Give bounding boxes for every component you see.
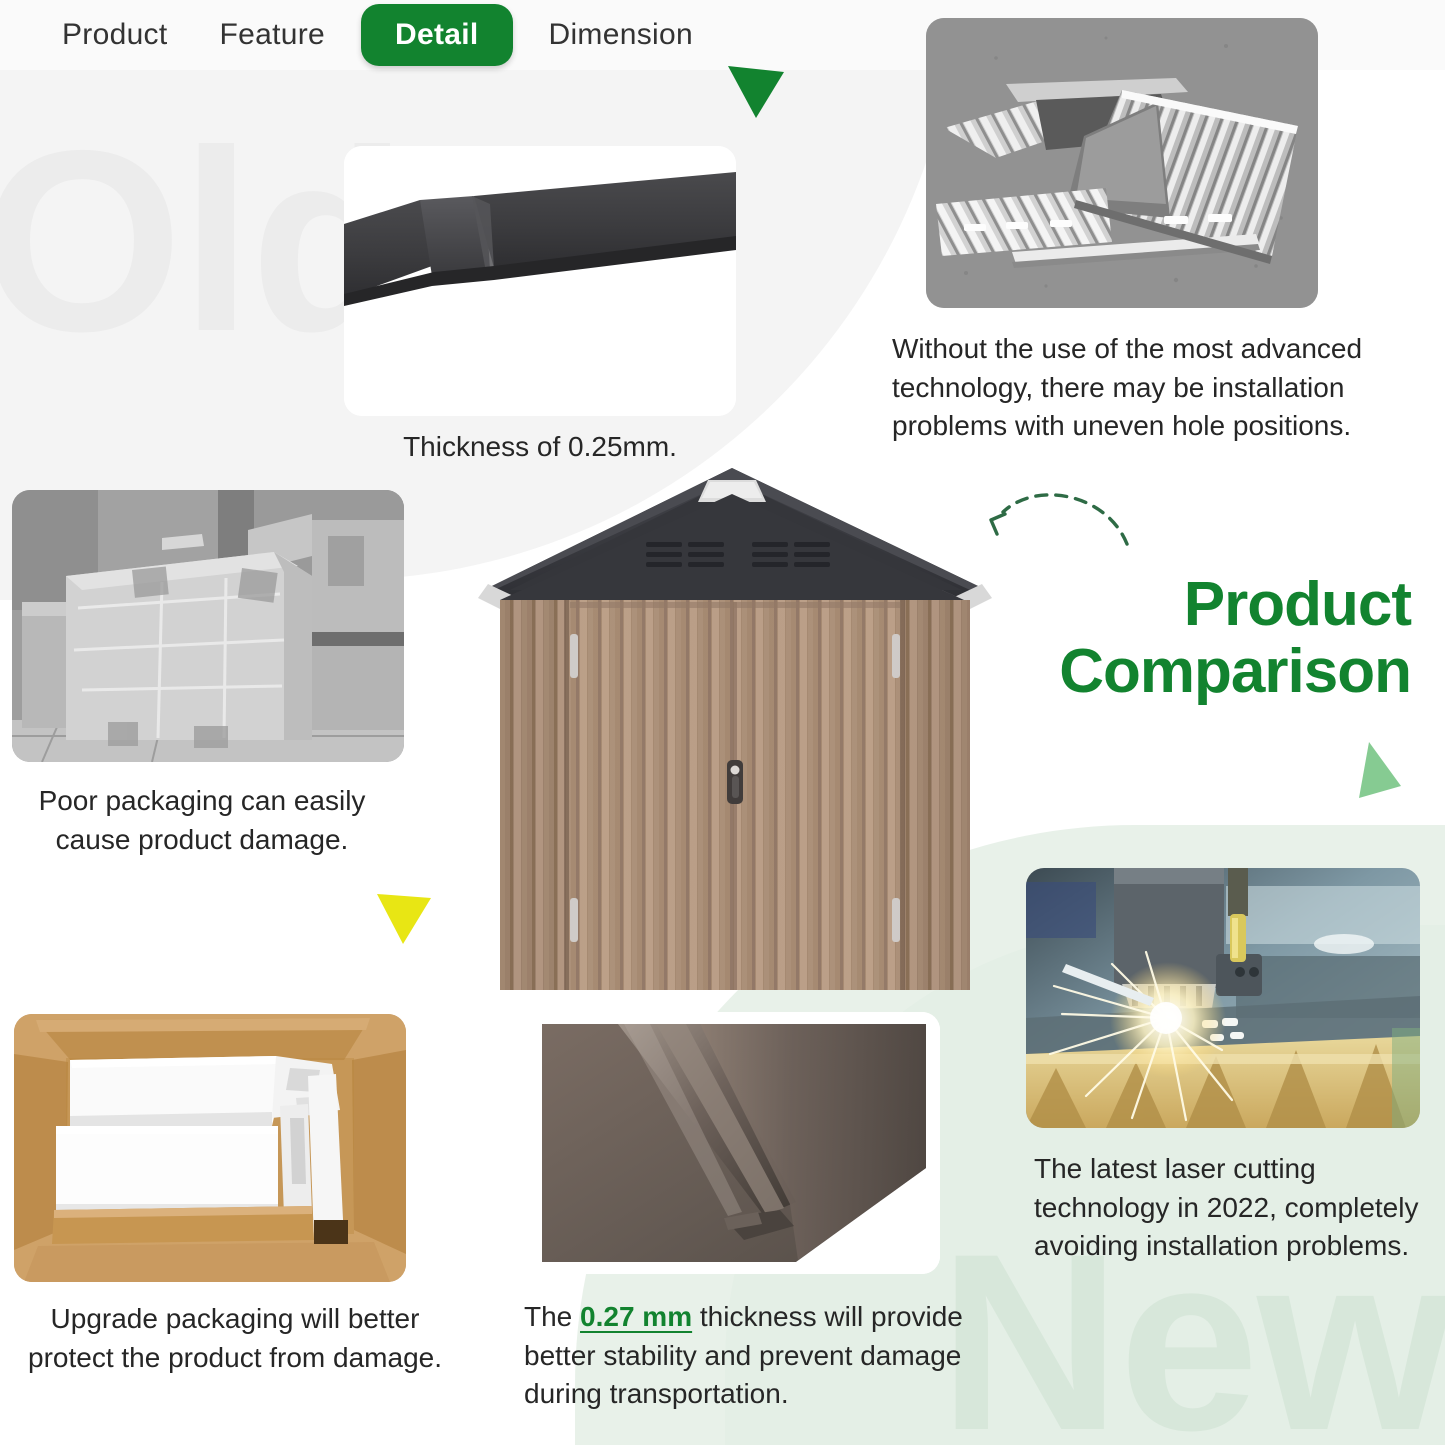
new-laser-photo (1026, 868, 1420, 1128)
new-packaging-photo (14, 1014, 406, 1282)
new-panel-image (528, 1012, 940, 1274)
light-green-triangle-icon (1355, 740, 1403, 802)
tab-product[interactable]: Product (36, 18, 194, 52)
tab-detail[interactable]: Detail (361, 4, 513, 66)
laser-cutting-illustration (1026, 868, 1420, 1128)
old-packaging-photo (12, 490, 404, 762)
new-packaging-caption-line2: protect the product from damage. (0, 1339, 470, 1378)
product-shed-image (470, 450, 1000, 990)
new-packaging-caption: Upgrade packaging will better protect th… (0, 1300, 470, 1377)
old-installation-caption: Without the use of the most advanced tec… (892, 330, 1432, 446)
old-packaging-caption-line2: cause product damage. (0, 821, 404, 860)
old-damaged-roof-photo (926, 18, 1318, 308)
old-thin-panel-illustration (344, 146, 736, 416)
yellow-triangle-icon (375, 890, 435, 946)
tab-dimension[interactable]: Dimension (523, 18, 719, 52)
old-packaging-caption-line1: Poor packaging can easily (0, 782, 404, 821)
infographic-canvas: Old New Product Feature Detail Dimension (0, 0, 1445, 1445)
thickness-value-highlight: 0.27 mm (580, 1301, 692, 1332)
shed-illustration (470, 450, 1000, 990)
page-title-line1: Product (941, 572, 1411, 639)
green-triangle-icon (726, 62, 788, 120)
collapsed-roof-illustration (926, 18, 1318, 308)
new-thickness-caption-pre: The (524, 1301, 580, 1332)
new-laser-caption: The latest laser cutting technology in 2… (1034, 1150, 1440, 1266)
new-thick-panel-illustration (528, 1012, 940, 1274)
stacked-boxes-illustration (12, 490, 404, 762)
new-packaging-caption-line1: Upgrade packaging will better (0, 1300, 470, 1339)
new-thickness-caption: The 0.27 mm thickness will provide bette… (524, 1298, 1014, 1414)
tab-feature[interactable]: Feature (194, 18, 352, 52)
open-box-illustration (14, 1014, 406, 1282)
page-title-line2: Comparison (941, 639, 1411, 706)
old-panel-image (344, 146, 736, 416)
page-title: Product Comparison (941, 572, 1411, 706)
old-packaging-caption: Poor packaging can easily cause product … (0, 782, 404, 859)
